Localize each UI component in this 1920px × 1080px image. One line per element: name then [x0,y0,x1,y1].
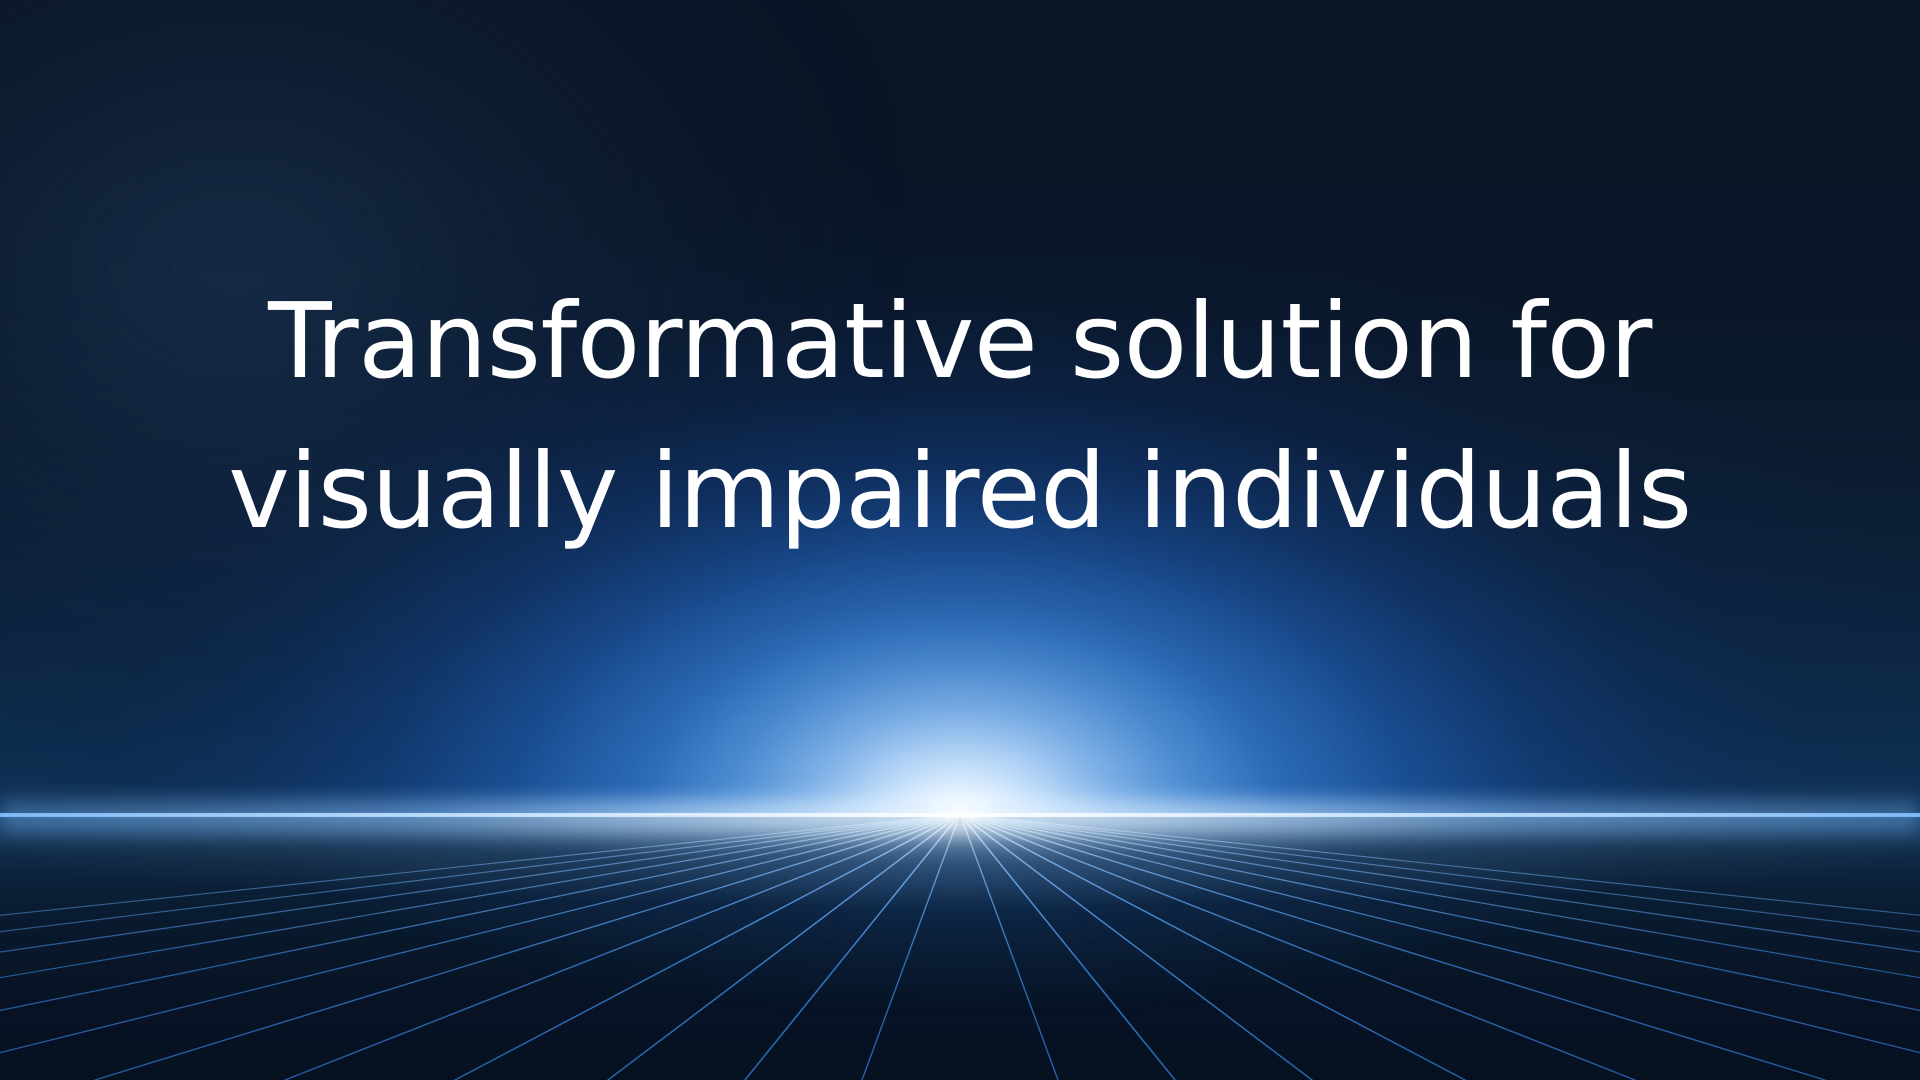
hero-slide: Transformative solution for visually imp… [0,0,1920,1080]
headline-line-1: Transformative solution for [0,266,1920,416]
horizon-halo [0,800,1920,834]
ground-plane [0,814,1920,1080]
page-title: Transformative solution for visually imp… [0,266,1920,566]
headline-line-2: visually impaired individuals [0,416,1920,566]
perspective-grid [0,814,1920,1080]
horizon-line-group [0,800,1920,834]
horizon-line-highlight [0,814,1920,816]
